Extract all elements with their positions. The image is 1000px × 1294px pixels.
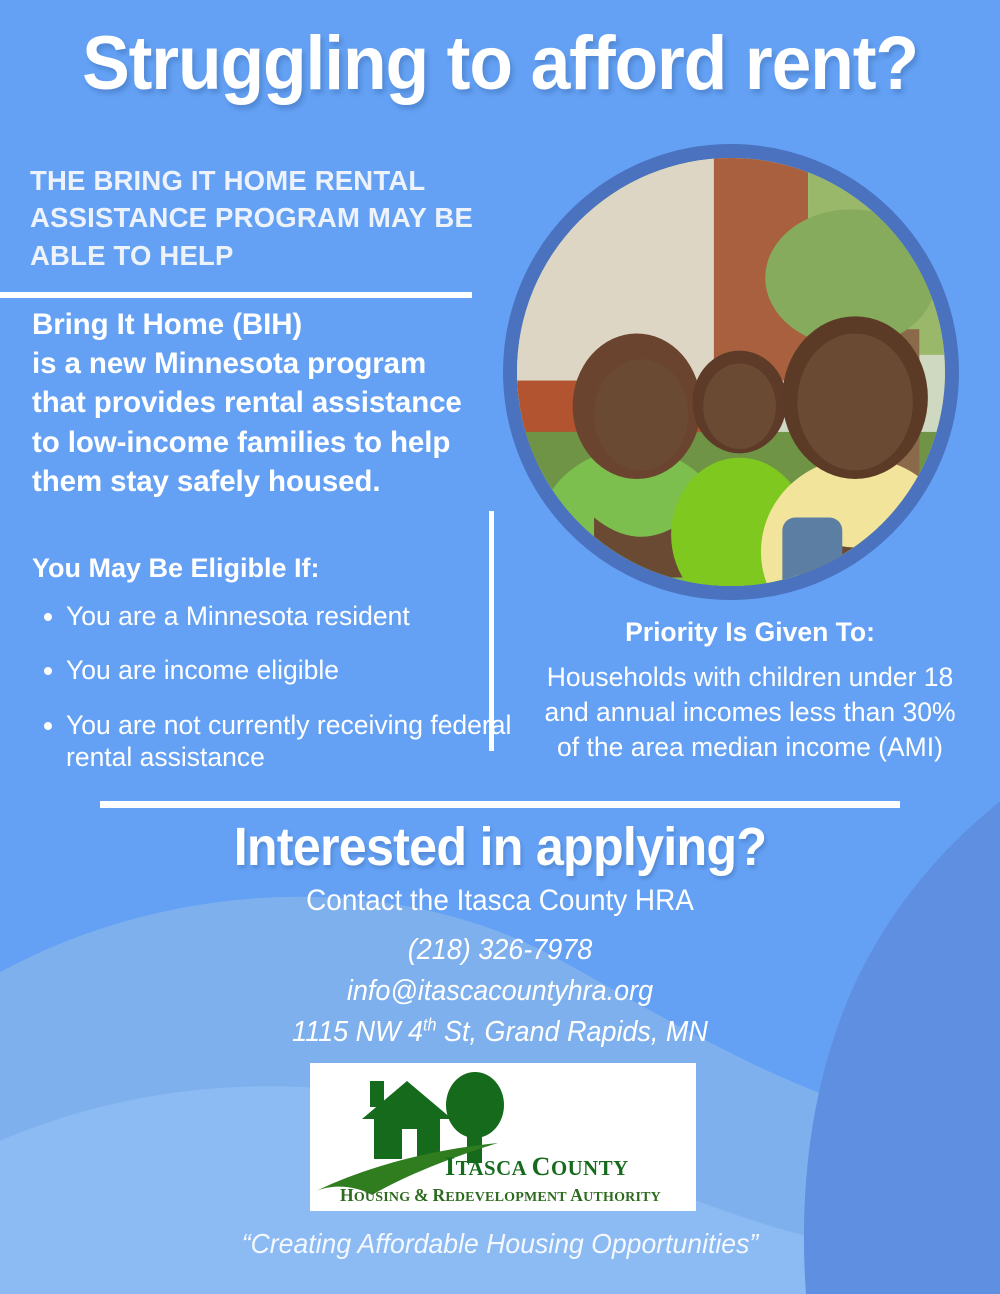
eligibility-list: You are a Minnesota resident You are inc… [34,600,516,795]
eligibility-heading: You May Be Eligible If: [32,553,320,584]
divider-vertical [489,511,494,751]
priority-line-1: Households with children under 18 [547,662,954,692]
page-title: Struggling to afford rent? [30,24,970,105]
family-photo-illustration [517,158,945,586]
priority-line-3: of the area median income (AMI) [557,732,943,762]
footer-tagline: “Creating Affordable Housing Opportuniti… [25,1228,975,1260]
logo-name-line: ITASCA COUNTY [445,1152,629,1181]
lead-line-2: is a new Minnesota program [32,347,426,380]
program-description: Bring It Home (BIH) is a new Minnesota p… [32,305,502,501]
priority-heading: Priority Is Given To: [510,617,990,648]
address-ordinal: th [423,1015,436,1035]
list-item: You are not currently receiving federal … [66,709,516,774]
family-photo [503,144,959,600]
list-item: You are income eligible [66,654,516,686]
logo-sub-line: HOUSING & REDEVELOPMENT AUTHORITY [340,1185,661,1205]
itasca-county-hra-logo: ITASCA COUNTY HOUSING & REDEVELOPMENT AU… [310,1063,696,1211]
program-subtitle: THE BRING IT HOME RENTAL ASSISTANCE PROG… [30,162,490,274]
email-address[interactable]: info@itascacountyhra.org [347,975,653,1007]
priority-description: Households with children under 18 and an… [500,660,1000,766]
cta-heading: Interested in applying? [35,816,965,878]
street-address: 1115 NW 4th St, Grand Rapids, MN [292,1016,708,1048]
address-prefix: 1115 NW 4 [292,1016,423,1048]
contact-label: Contact the Itasca County HRA [35,884,965,918]
lead-line-3: that provides rental assistance [32,386,462,419]
contact-details: (218) 326-7978 info@itascacountyhra.org … [35,930,965,1054]
priority-line-2: and annual incomes less than 30% [544,697,955,727]
lead-line-1: Bring It Home (BIH) [32,308,302,341]
lead-line-4: to low-income families to help [32,426,450,459]
list-item: You are a Minnesota resident [66,600,516,632]
phone-number[interactable]: (218) 326-7978 [408,934,592,966]
logo-artwork: ITASCA COUNTY HOUSING & REDEVELOPMENT AU… [310,1063,696,1211]
address-suffix: St, Grand Rapids, MN [437,1016,708,1048]
house-icon [362,1081,452,1161]
lead-line-5: them stay safely housed. [32,465,380,498]
flyer-page: Struggling to afford rent? THE BRING IT … [0,0,1000,1294]
divider-under-subtitle [0,292,472,298]
divider-above-cta [100,801,900,808]
